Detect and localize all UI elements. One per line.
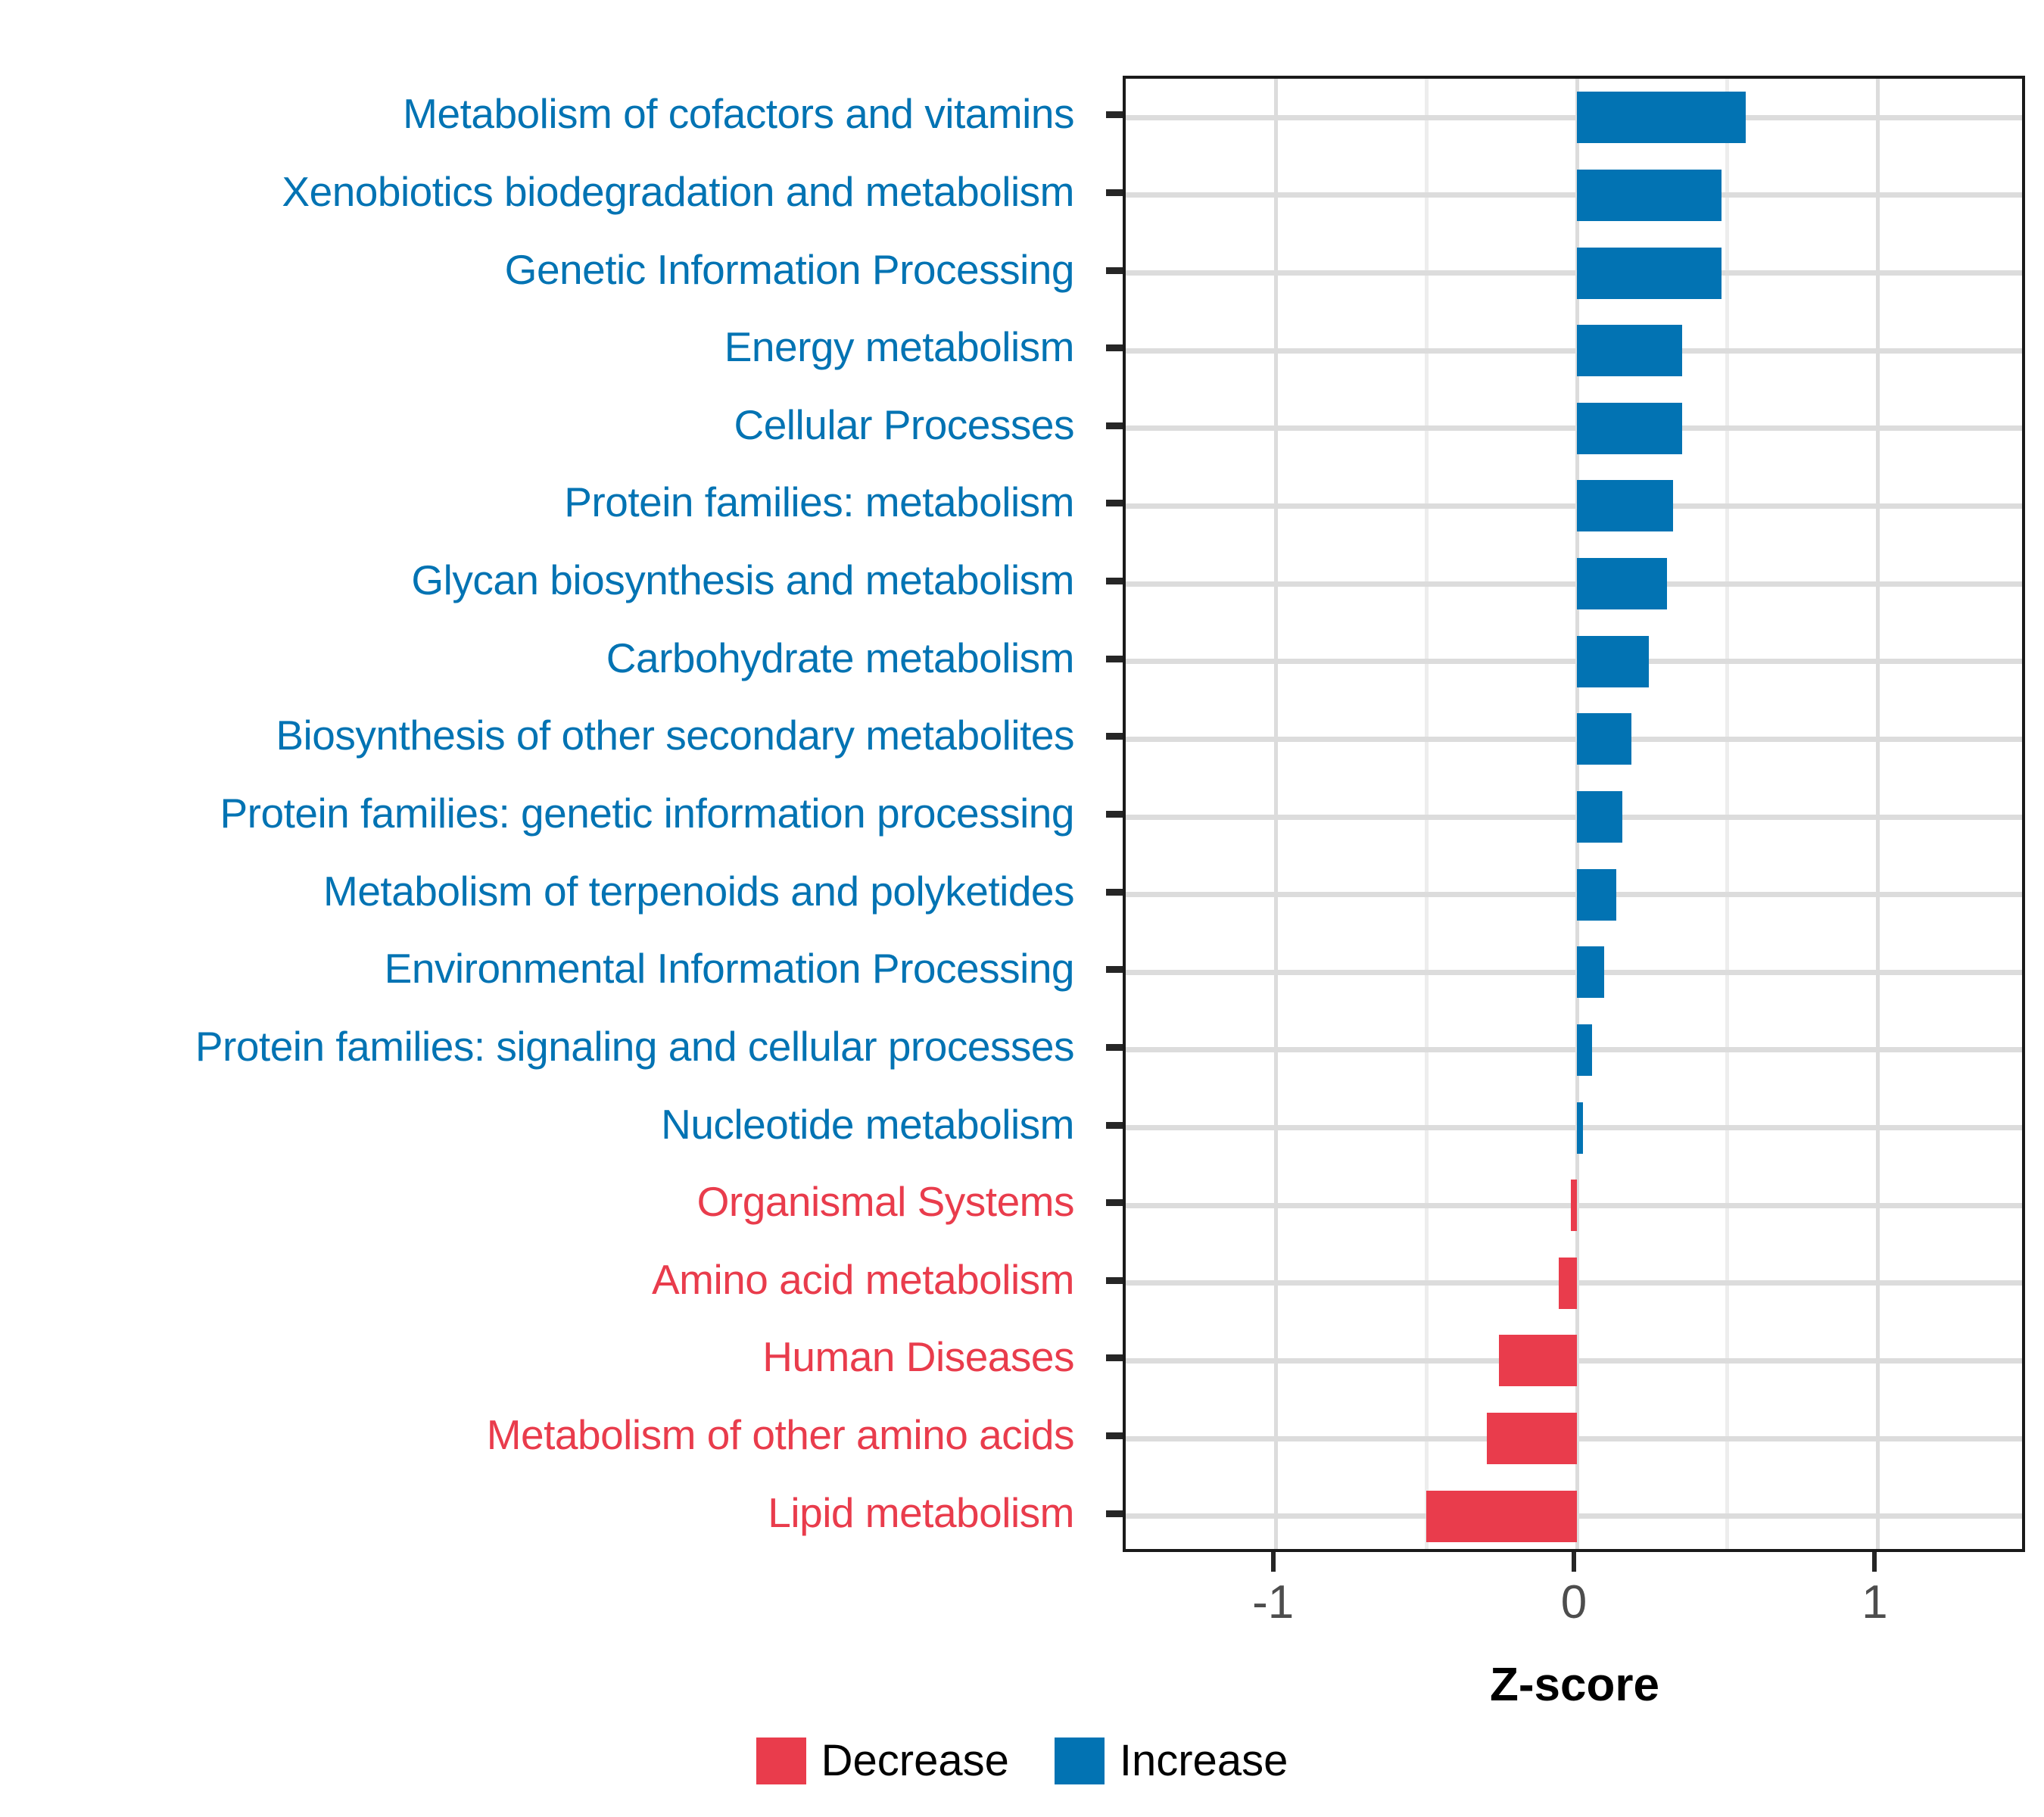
y-axis-tick-mark [1106,267,1123,274]
x-axis-tick-label: -1 [1252,1579,1294,1626]
y-axis-tick-mark [1106,1122,1123,1129]
y-axis-tick-label: Human Diseases [762,1336,1074,1378]
y-axis-tick-label: Environmental Information Processing [385,948,1074,990]
bar [1577,403,1682,454]
bar [1577,170,1722,221]
y-axis-tick-label: Genetic Information Processing [505,249,1074,291]
y-gridline [1126,115,2022,120]
y-gridline [1126,192,2022,198]
y-axis-tick-label: Protein families: metabolism [564,482,1074,523]
bar [1426,1491,1577,1542]
legend-color-swatch [756,1738,806,1784]
y-axis-tick-mark [1106,656,1123,662]
y-axis-tick-label: Biosynthesis of other secondary metaboli… [276,715,1074,756]
bar [1577,248,1722,299]
y-axis-tick-label: Lipid metabolism [768,1492,1074,1534]
bar [1577,1024,1592,1076]
bar [1571,1180,1577,1231]
y-axis-tick-mark [1106,1432,1123,1439]
y-axis-tick-label: Metabolism of cofactors and vitamins [403,93,1074,135]
y-gridline [1126,815,2022,820]
y-axis-tick-mark [1106,889,1123,896]
bar [1577,1102,1583,1154]
x-axis-tick-mark [1271,1552,1276,1572]
legend-item: Decrease [756,1738,1009,1784]
y-gridline [1126,737,2022,742]
y-axis-tick-label: Nucleotide metabolism [661,1104,1074,1145]
y-gridline [1126,659,2022,664]
y-gridline [1126,503,2022,509]
legend-label: Decrease [821,1739,1009,1783]
x-axis-tick-label: 0 [1561,1579,1587,1626]
y-axis-category-labels: Metabolism of cofactors and vitaminsXeno… [0,76,1101,1552]
plot-panel [1123,76,2025,1552]
y-axis-tick-mark [1106,1277,1123,1284]
y-axis-tick-label: Cellular Processes [734,404,1074,446]
bar [1487,1413,1577,1464]
y-gridline [1126,970,2022,975]
y-axis-tick-mark [1106,1354,1123,1361]
y-axis-tick-mark [1106,500,1123,506]
y-axis-tick-label: Organismal Systems [697,1181,1074,1223]
y-axis-tick-label: Carbohydrate metabolism [606,637,1074,679]
y-axis-tick-label: Glycan biosynthesis and metabolism [411,559,1074,601]
zscore-bar-chart-figure: Metabolism of cofactors and vitaminsXeno… [0,0,2044,1817]
y-gridline [1126,1125,2022,1130]
bar [1559,1258,1577,1309]
y-gridline [1126,1047,2022,1052]
legend: DecreaseIncrease [0,1738,2044,1784]
x-axis-tick-label: 1 [1862,1579,1887,1626]
y-axis-tick-mark [1106,578,1123,584]
x-axis-title: Z-score [1490,1658,1659,1712]
y-axis-tick-mark [1106,1044,1123,1051]
bar [1577,92,1746,143]
y-gridline [1126,270,2022,276]
y-axis-tick-mark [1106,344,1123,351]
y-axis-tick-label: Protein families: signaling and cellular… [195,1026,1074,1067]
y-gridline [1126,581,2022,587]
y-axis-tick-label: Protein families: genetic information pr… [220,793,1074,834]
bar [1577,325,1682,376]
bar [1499,1335,1577,1386]
y-gridline [1126,892,2022,897]
y-axis-tick-mark [1106,1510,1123,1517]
y-axis-tick-label: Metabolism of terpenoids and polyketides [323,871,1074,912]
y-axis-tick-mark [1106,111,1123,118]
bar [1577,791,1622,843]
y-axis-tick-mark [1106,189,1123,196]
y-axis-tick-mark [1106,811,1123,818]
bar [1577,558,1667,609]
y-axis-tick-label: Xenobiotics biodegradation and metabolis… [282,171,1074,213]
legend-color-swatch [1055,1738,1105,1784]
bar [1577,946,1604,998]
y-axis-tick-label: Energy metabolism [724,326,1074,368]
y-axis-tick-label: Amino acid metabolism [652,1259,1074,1301]
bar [1577,636,1649,687]
bar [1577,713,1631,765]
y-gridline [1126,348,2022,354]
x-axis-tick-mark [1872,1552,1877,1572]
y-axis-tick-mark [1106,733,1123,740]
y-axis-tick-mark [1106,966,1123,973]
bar [1577,480,1673,531]
y-axis-tick-mark [1106,1199,1123,1206]
y-gridline [1126,425,2022,431]
bar [1577,869,1616,921]
y-axis-tick-label: Metabolism of other amino acids [487,1414,1074,1456]
legend-item: Increase [1055,1738,1288,1784]
y-axis-tick-mark [1106,422,1123,429]
legend-label: Increase [1120,1739,1288,1783]
x-axis-tick-mark [1572,1552,1576,1572]
